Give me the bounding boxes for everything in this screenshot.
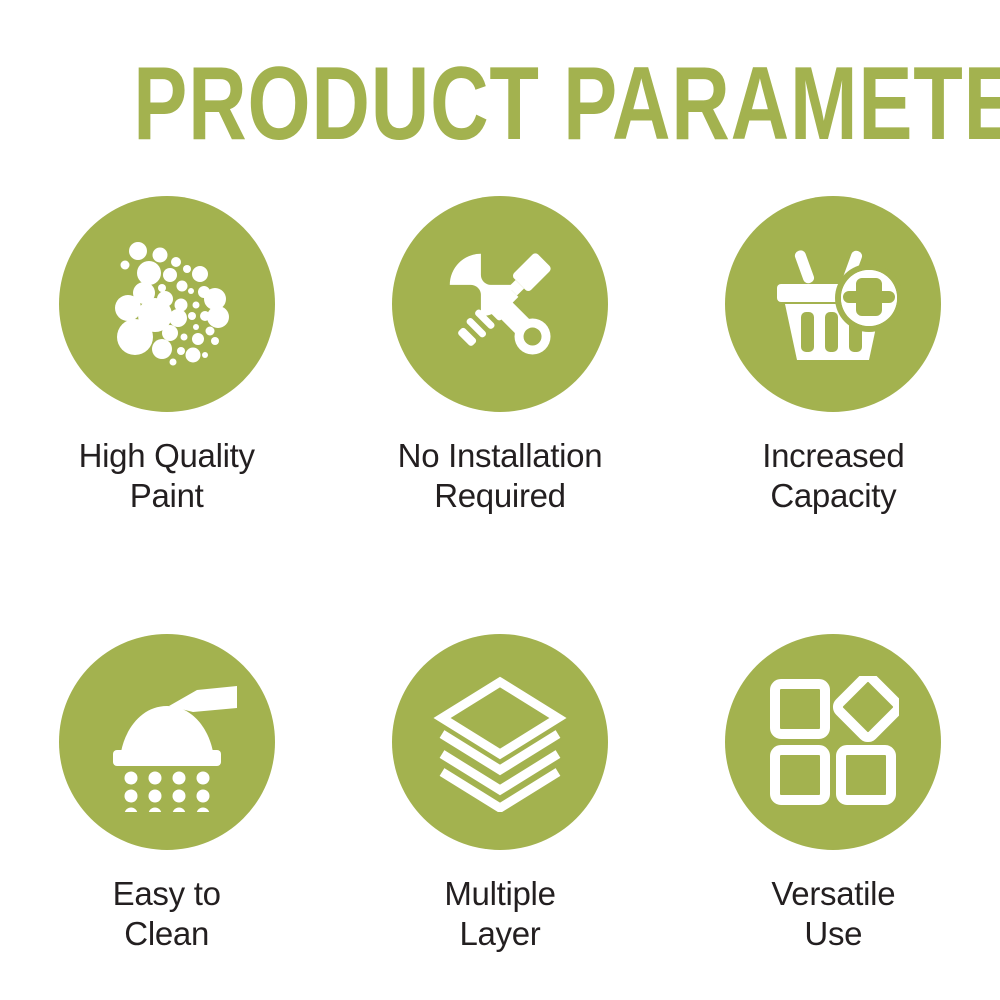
feature-item-versatile-use[interactable]: Versatile Use [667,634,1000,954]
page-title-container: PRODUCT PARAMETER [0,52,1000,156]
paint-dots-icon [92,229,242,379]
squares-grid-icon [767,676,899,808]
feature-icon-badge [725,634,941,850]
feature-icon-badge [725,196,941,412]
feature-item-multiple-layer[interactable]: Multiple Layer [333,634,666,954]
feature-item-increased-capacity[interactable]: Increased Capacity [667,196,1000,516]
feature-label: High Quality Paint [79,436,255,516]
feature-grid: High Quality Paint [0,196,1000,954]
feature-label: Multiple Layer [444,874,555,954]
wrench-screwdriver-tools-icon [432,236,568,372]
stacked-layers-icon [430,672,570,812]
feature-icon-badge [59,634,275,850]
feature-label: Versatile Use [771,874,895,954]
feature-item-high-quality-paint[interactable]: High Quality Paint [0,196,333,516]
shower-head-icon [97,672,237,812]
feature-item-no-installation-required[interactable]: No Installation Required [333,196,666,516]
feature-icon-badge [59,196,275,412]
basket-plus-icon [765,236,901,372]
page-title: PRODUCT PARAMETER [133,52,1000,156]
product-parameter-infographic: PRODUCT PARAMETER [0,0,1000,1000]
feature-label: Increased Capacity [762,436,904,516]
feature-icon-badge [392,634,608,850]
feature-item-easy-to-clean[interactable]: Easy to Clean [0,634,333,954]
feature-label: No Installation Required [398,436,603,516]
feature-icon-badge [392,196,608,412]
feature-label: Easy to Clean [113,874,221,954]
